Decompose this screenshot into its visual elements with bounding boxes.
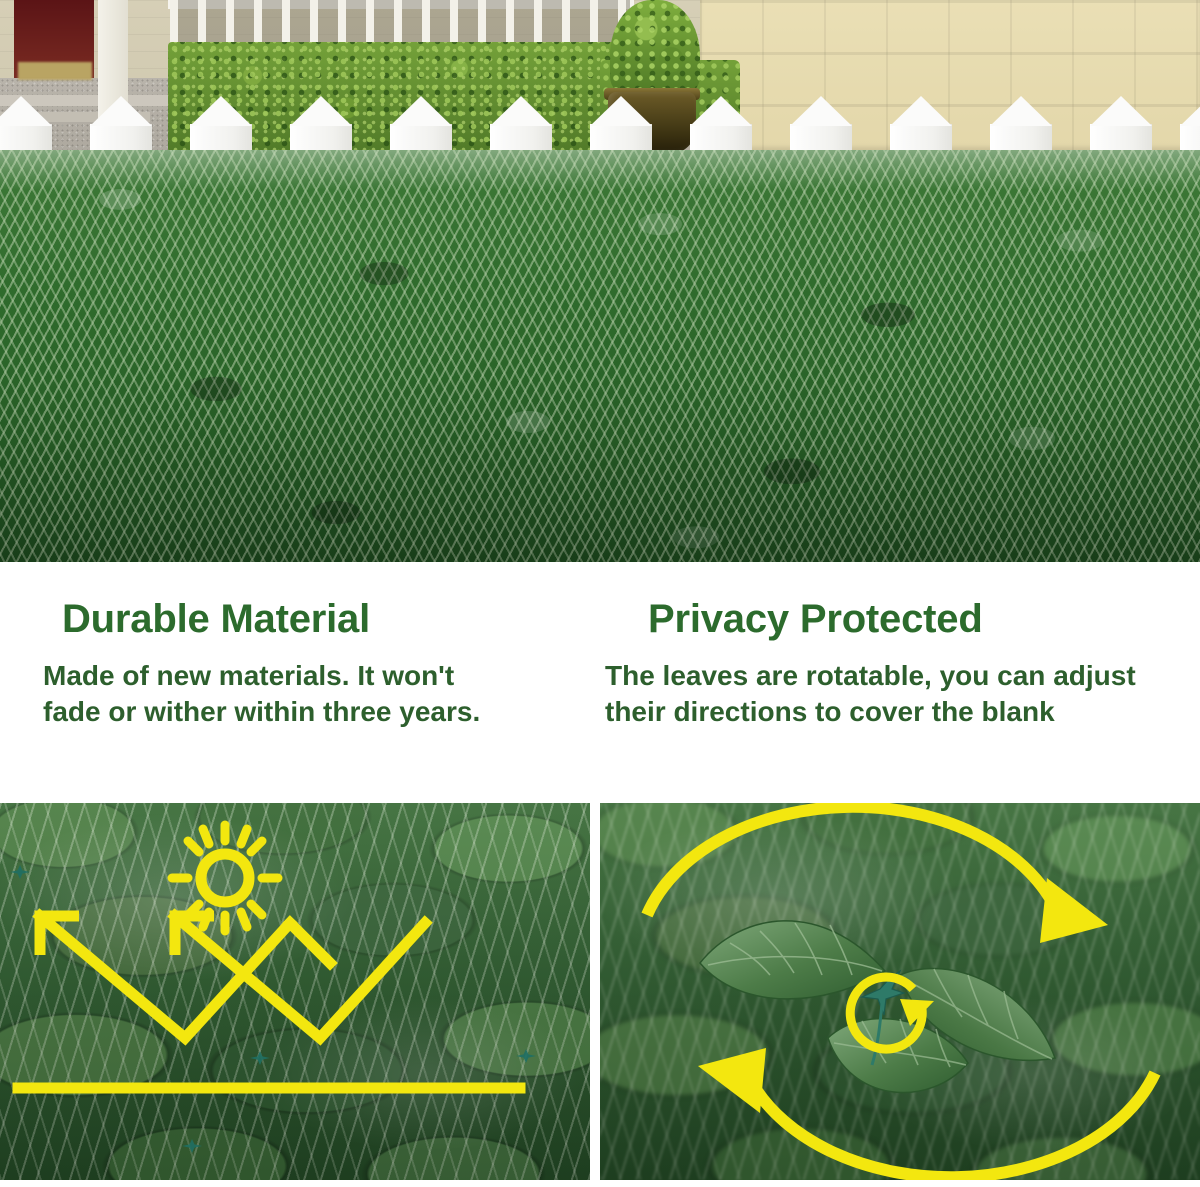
feature-title-privacy-protected: Privacy Protected xyxy=(600,562,1180,640)
uv-reflection-arrows-icon xyxy=(18,916,520,1088)
rotation-arrows-overlay xyxy=(600,803,1200,1180)
potted-topiary xyxy=(610,0,700,96)
door-mat xyxy=(18,62,92,80)
artificial-ivy-screen xyxy=(0,150,1200,562)
feature-block-privacy-protected: Privacy Protected The leaves are rotatab… xyxy=(600,562,1180,730)
feature-block-durable-material: Durable Material Made of new materials. … xyxy=(40,562,560,730)
bottom-white-strip xyxy=(0,1180,1200,1187)
rotation-arrowhead-top xyxy=(1040,878,1108,943)
ivy-shading xyxy=(0,150,1200,562)
feature-title-durable-material: Durable Material xyxy=(40,562,560,640)
rotatable-leaf-closeup xyxy=(600,803,1200,1180)
hero-product-photo xyxy=(0,0,1200,562)
feature-text-section: Durable Material Made of new materials. … xyxy=(0,562,1200,803)
uv-reflection-overlay xyxy=(0,803,590,1180)
rotation-arrowhead-bottom xyxy=(698,1048,766,1113)
rotation-arrow-top-icon xyxy=(647,807,1055,915)
feature-body-durable-material: Made of new materials. It won't fade or … xyxy=(40,640,513,730)
rotation-arrow-bottom-icon xyxy=(752,1073,1155,1177)
feature-body-privacy-protected: The leaves are rotatable, you can adjust… xyxy=(600,640,1180,730)
small-rotation-arrow-icon xyxy=(850,977,934,1049)
uv-resistant-leaf-closeup xyxy=(0,803,590,1180)
